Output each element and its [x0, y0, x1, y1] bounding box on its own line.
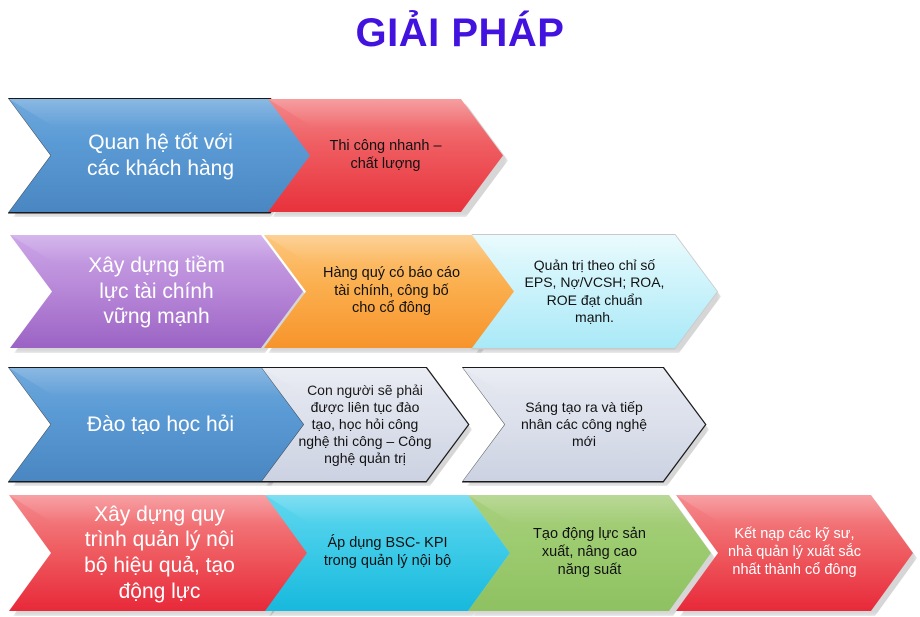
row-internal-management: Xây dựng quytrình quản lý nộibộ hiệu quả…: [0, 495, 920, 611]
slide-canvas: GIẢI PHÁP Quan hệ tốt vớicác khách hàng …: [0, 0, 920, 617]
chevron-label: Quản trị theo chỉ sốEPS, Nợ/VCSH; ROA,RO…: [519, 257, 671, 325]
row-customer-relations: Quan hệ tốt vớicác khách hàng Thi công n…: [0, 99, 920, 212]
row-financial-strength: Xây dựng tiềmlực tài chínhvững mạnh Hàng…: [0, 235, 920, 348]
chevron-label: Con người sẽ phảiđược liên tục đàotạo, h…: [292, 382, 437, 467]
chevron-label: Hàng quý có báo cáotài chính, công bốcho…: [317, 265, 466, 318]
chevron-label: Quan hệ tốt vớicác khách hàng: [81, 130, 240, 181]
chevron-label: Đào tạo học hỏi: [81, 412, 240, 438]
chevron-label: Thi công nhanh –chất lượng: [323, 138, 447, 173]
chevron-label: Áp dụng BSC- KPItrong quản lý nội bộ: [318, 535, 457, 570]
chevron-label: Xây dựng quytrình quản lý nộibộ hiệu quả…: [78, 502, 241, 604]
chevron-row3-item1[interactable]: Đào tạo học hỏi: [9, 368, 312, 481]
chevron-label: Xây dựng tiềmlực tài chínhvững mạnh: [82, 253, 231, 330]
chevron-row3-item3[interactable]: Sáng tạo ra và tiếpnhân các công nghệmới: [463, 368, 705, 481]
chevron-row2-item1[interactable]: Xây dựng tiềmlực tài chínhvững mạnh: [10, 235, 303, 348]
chevron-row4-item1[interactable]: Xây dựng quytrình quản lý nộibộ hiệu quả…: [9, 495, 310, 611]
chevron-label: Tạo động lực sảnxuất, nâng caonăng suất: [527, 526, 652, 579]
page-title: GIẢI PHÁP: [0, 8, 920, 58]
chevron-label: Sáng tạo ra và tiếpnhân các công nghệmới: [515, 399, 653, 450]
chevron-label: Kết nạp các kỹ sư,nhà quản lý xuất sắcnh…: [722, 526, 867, 579]
chevron-row1-item1[interactable]: Quan hệ tốt vớicác khách hàng: [9, 99, 312, 212]
chevron-row4-item4[interactable]: Kết nạp các kỹ sư,nhà quản lý xuất sắcnh…: [676, 495, 913, 611]
row-training-learning: Đào tạo học hỏi Con người sẽ phảiđược li…: [0, 368, 920, 481]
